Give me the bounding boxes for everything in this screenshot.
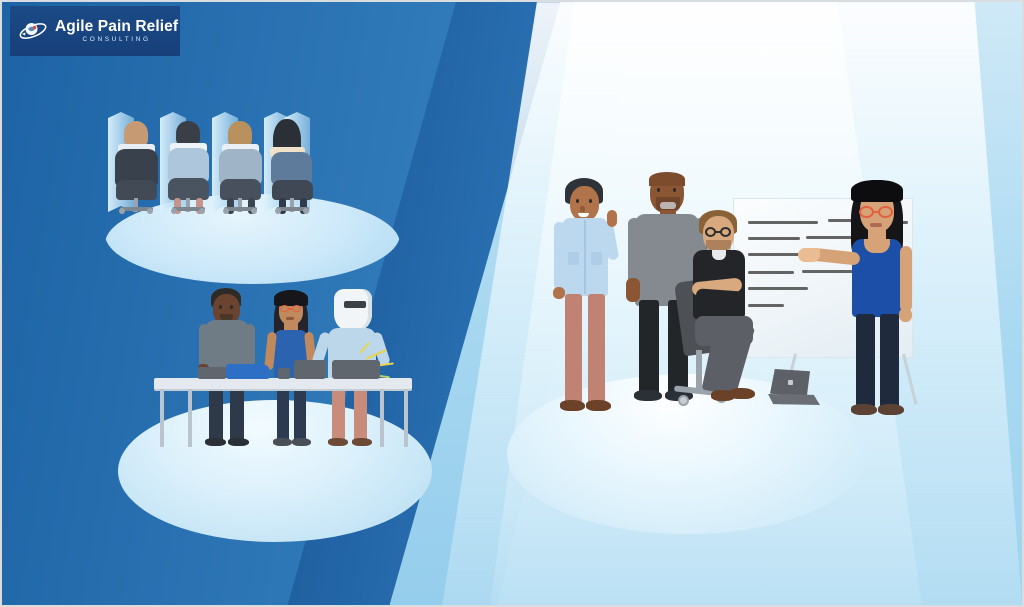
illustration-canvas: Agile Pain Relief CONSULTING	[0, 0, 1024, 607]
person-red-glasses	[859, 206, 874, 218]
person-arm	[628, 218, 641, 286]
person-shoe	[634, 390, 662, 401]
shirt-pocket	[591, 252, 602, 265]
person-hand	[553, 287, 565, 299]
laptop-logo-icon	[788, 380, 793, 385]
person-hand	[899, 308, 912, 322]
person-hair	[649, 172, 685, 186]
shirt-pocket	[568, 252, 579, 265]
person-mouth	[870, 223, 882, 227]
person-glasses	[705, 227, 716, 237]
person-leg	[588, 294, 605, 404]
person-shoe	[851, 404, 877, 415]
person-bangs	[851, 180, 903, 202]
person-eye	[576, 199, 579, 203]
person-shoe	[878, 404, 904, 415]
person-shoe	[711, 390, 735, 401]
person-arm	[900, 246, 912, 312]
laptop-base	[768, 394, 820, 405]
person-hand	[626, 278, 640, 302]
scene-collaborative-team	[2, 2, 1022, 605]
person-red-glasses	[878, 206, 893, 218]
logo-subtitle: CONSULTING	[55, 37, 178, 44]
person-leg	[856, 314, 875, 408]
glasses-bridge	[873, 211, 879, 213]
pointing-finger-icon	[607, 210, 617, 227]
whiteboard-leg	[902, 354, 917, 405]
person-shoe	[586, 400, 611, 411]
person-glasses	[720, 227, 731, 237]
person-shoe	[560, 400, 585, 411]
chair-wheel	[678, 395, 689, 406]
person-leg	[880, 314, 899, 408]
shirt-collar	[712, 250, 726, 260]
shirt-placket	[584, 220, 586, 294]
person-leg	[565, 294, 582, 404]
person-eye	[657, 188, 660, 192]
person-eye	[673, 188, 676, 192]
logo-banner[interactable]: Agile Pain Relief CONSULTING	[10, 6, 180, 56]
person-leg	[639, 300, 659, 394]
person-hand	[798, 248, 820, 262]
glasses-bridge	[716, 231, 721, 233]
logo-title: Agile Pain Relief	[55, 19, 178, 35]
orbit-swoosh-icon	[18, 17, 48, 45]
person-neckline	[864, 239, 890, 253]
person-arm	[554, 222, 565, 290]
person-eye	[589, 199, 592, 203]
person-nose	[580, 206, 585, 212]
